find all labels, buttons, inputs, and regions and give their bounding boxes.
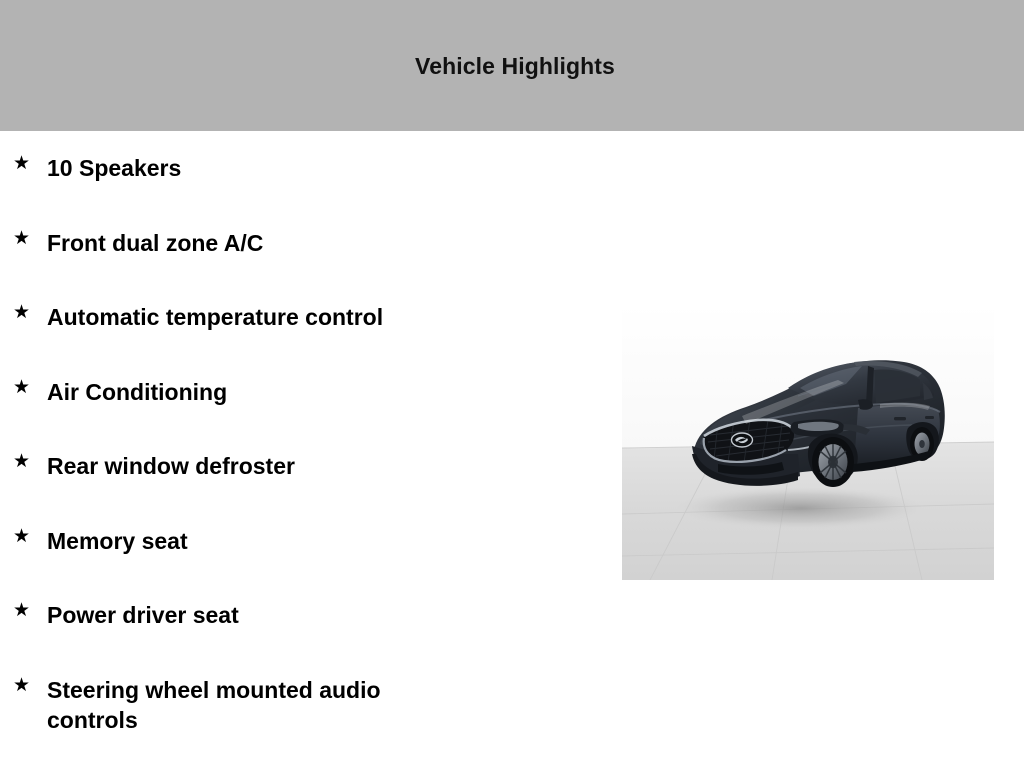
- header-band: Vehicle Highlights: [0, 0, 1024, 131]
- list-item: ★ Front dual zone A/C: [0, 206, 600, 281]
- list-item-label: Memory seat: [47, 526, 600, 556]
- list-item-label: Front dual zone A/C: [47, 228, 600, 258]
- star-icon: ★: [13, 375, 30, 401]
- star-icon: ★: [13, 449, 30, 475]
- star-icon: ★: [13, 300, 30, 326]
- star-icon: ★: [13, 524, 30, 550]
- list-item: ★ Automatic temperature control: [0, 280, 600, 355]
- list-item-label: Rear window defroster: [47, 451, 600, 481]
- star-icon: ★: [13, 598, 30, 624]
- list-item-label: Steering wheel mounted audio controls: [47, 675, 600, 735]
- vehicle-highlights-list: ★ 10 Speakers ★ Front dual zone A/C ★ Au…: [0, 131, 600, 735]
- list-item: ★ Air Conditioning: [0, 355, 600, 430]
- list-item: ★ Rear window defroster: [0, 429, 600, 504]
- list-item: ★ Power driver seat: [0, 578, 600, 653]
- list-item: ★ Memory seat: [0, 504, 600, 579]
- list-item-label: Air Conditioning: [47, 377, 600, 407]
- page-title: Vehicle Highlights: [0, 52, 1024, 80]
- list-item-label: Automatic temperature control: [47, 302, 600, 332]
- star-icon: ★: [13, 151, 30, 177]
- list-item-label: Power driver seat: [47, 600, 600, 630]
- list-item: ★ Steering wheel mounted audio controls: [0, 653, 600, 735]
- list-item: ★ 10 Speakers: [0, 131, 600, 206]
- star-icon: ★: [13, 226, 30, 252]
- star-icon: ★: [13, 673, 30, 699]
- list-item-label: 10 Speakers: [47, 153, 600, 183]
- vehicle-image: [622, 304, 994, 580]
- vehicle-photo: [622, 304, 994, 580]
